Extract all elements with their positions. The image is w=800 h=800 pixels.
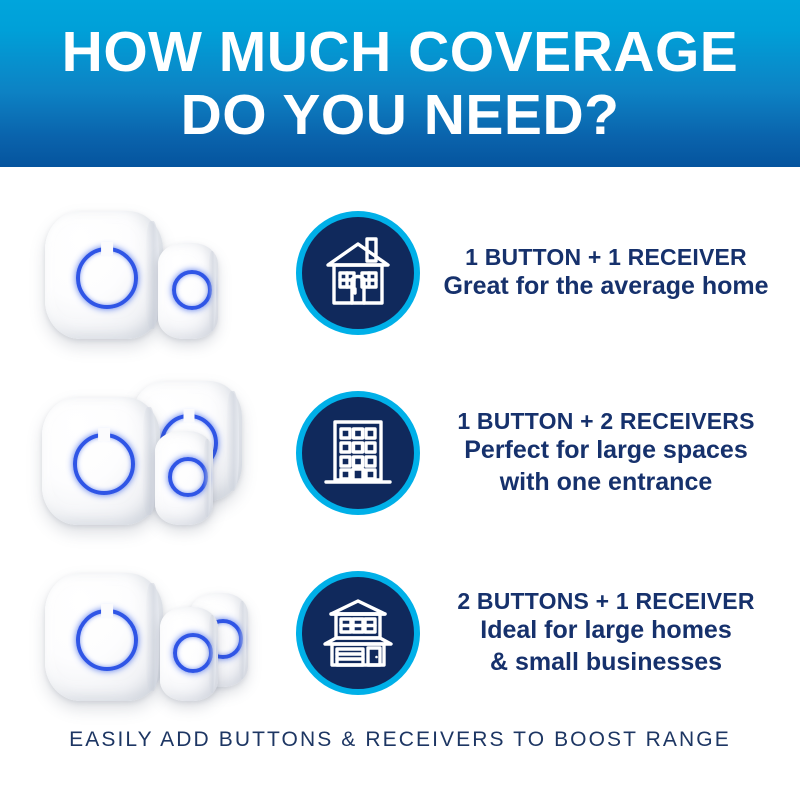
footer-caption-text: EASILY ADD BUTTONS & RECEIVERS TO BOOST … (69, 728, 731, 751)
option-subline: with one entrance (500, 468, 713, 498)
button-ring-icon (168, 457, 208, 497)
button-device (158, 243, 218, 339)
receiver-device (42, 397, 160, 525)
device-group-2-buttons-1-receiver (0, 545, 285, 720)
text-cell: 1 BUTTON + 2 RECEIVERS Perfect for large… (430, 365, 800, 540)
option-subline: Perfect for large spaces (464, 436, 747, 466)
coverage-option-row: 2 BUTTONS + 1 RECEIVER Ideal for large h… (0, 545, 800, 720)
header-banner: HOW MUCH COVERAGE DO YOU NEED? (0, 0, 800, 167)
house-icon (296, 211, 420, 335)
coverage-options-list: 1 BUTTON + 1 RECEIVER Great for the aver… (0, 167, 800, 722)
icon-cell (285, 545, 430, 720)
device-group-1-button-1-receiver (0, 185, 285, 360)
receiver-device (45, 573, 163, 701)
header-title-line-1: HOW MUCH COVERAGE (62, 23, 739, 81)
footer-caption: EASILY ADD BUTTONS & RECEIVERS TO BOOST … (0, 728, 800, 752)
icon-cell (285, 365, 430, 540)
option-headline: 1 BUTTON + 1 RECEIVER (465, 244, 747, 270)
power-ring-icon (76, 247, 138, 309)
option-headline: 2 BUTTONS + 1 RECEIVER (457, 588, 754, 614)
device-group-1-button-2-receivers (0, 365, 285, 540)
power-ring-icon (73, 433, 135, 495)
header-title-line-2: DO YOU NEED? (181, 86, 620, 144)
option-subline: & small businesses (490, 648, 722, 678)
text-cell: 1 BUTTON + 1 RECEIVER Great for the aver… (430, 185, 800, 360)
button-ring-icon (172, 270, 212, 310)
power-ring-icon (76, 609, 138, 671)
option-subline: Ideal for large homes (480, 616, 731, 646)
option-headline: 1 BUTTON + 2 RECEIVERS (457, 408, 754, 434)
text-cell: 2 BUTTONS + 1 RECEIVER Ideal for large h… (430, 545, 800, 720)
button-device (160, 607, 218, 701)
coverage-infographic: HOW MUCH COVERAGE DO YOU NEED? (0, 0, 800, 800)
apartment-building-icon (296, 391, 420, 515)
icon-cell (285, 185, 430, 360)
coverage-option-row: 1 BUTTON + 2 RECEIVERS Perfect for large… (0, 365, 800, 540)
receiver-device (45, 211, 163, 339)
button-device (155, 431, 213, 525)
two-story-house-garage-icon (296, 571, 420, 695)
coverage-option-row: 1 BUTTON + 1 RECEIVER Great for the aver… (0, 185, 800, 360)
button-ring-icon (173, 633, 213, 673)
option-subline: Great for the average home (443, 272, 768, 302)
